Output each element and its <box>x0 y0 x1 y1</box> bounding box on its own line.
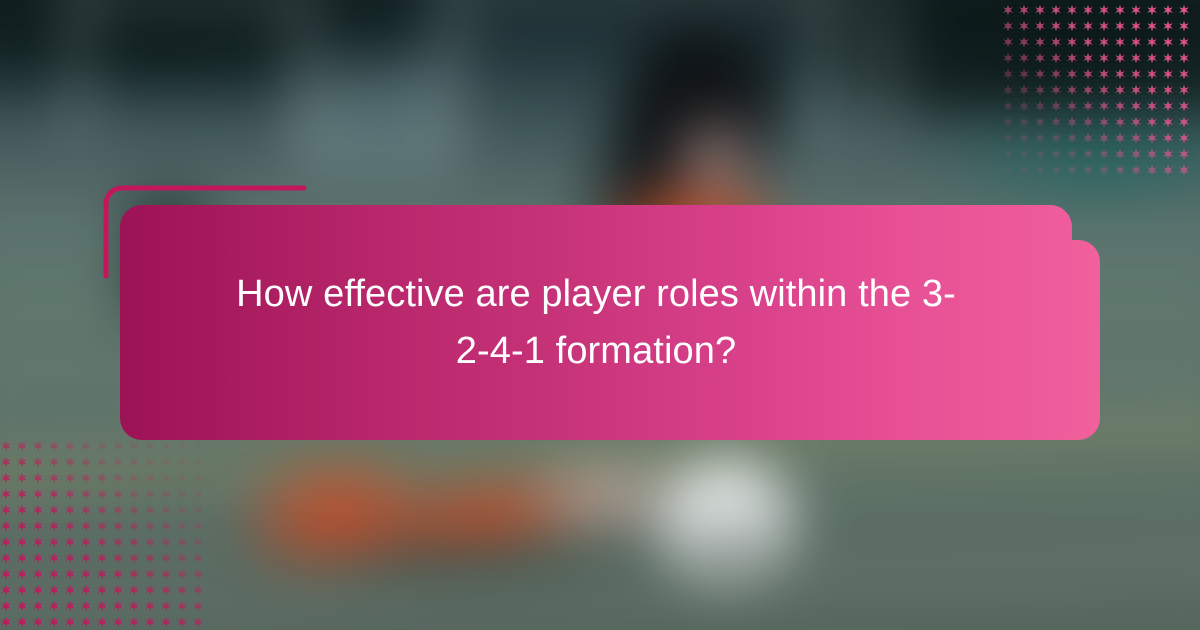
social-card-canvas: How effective are player roles within th… <box>0 0 1200 630</box>
page-title: How effective are player roles within th… <box>180 266 1012 378</box>
headline-card: How effective are player roles within th… <box>120 205 1072 440</box>
